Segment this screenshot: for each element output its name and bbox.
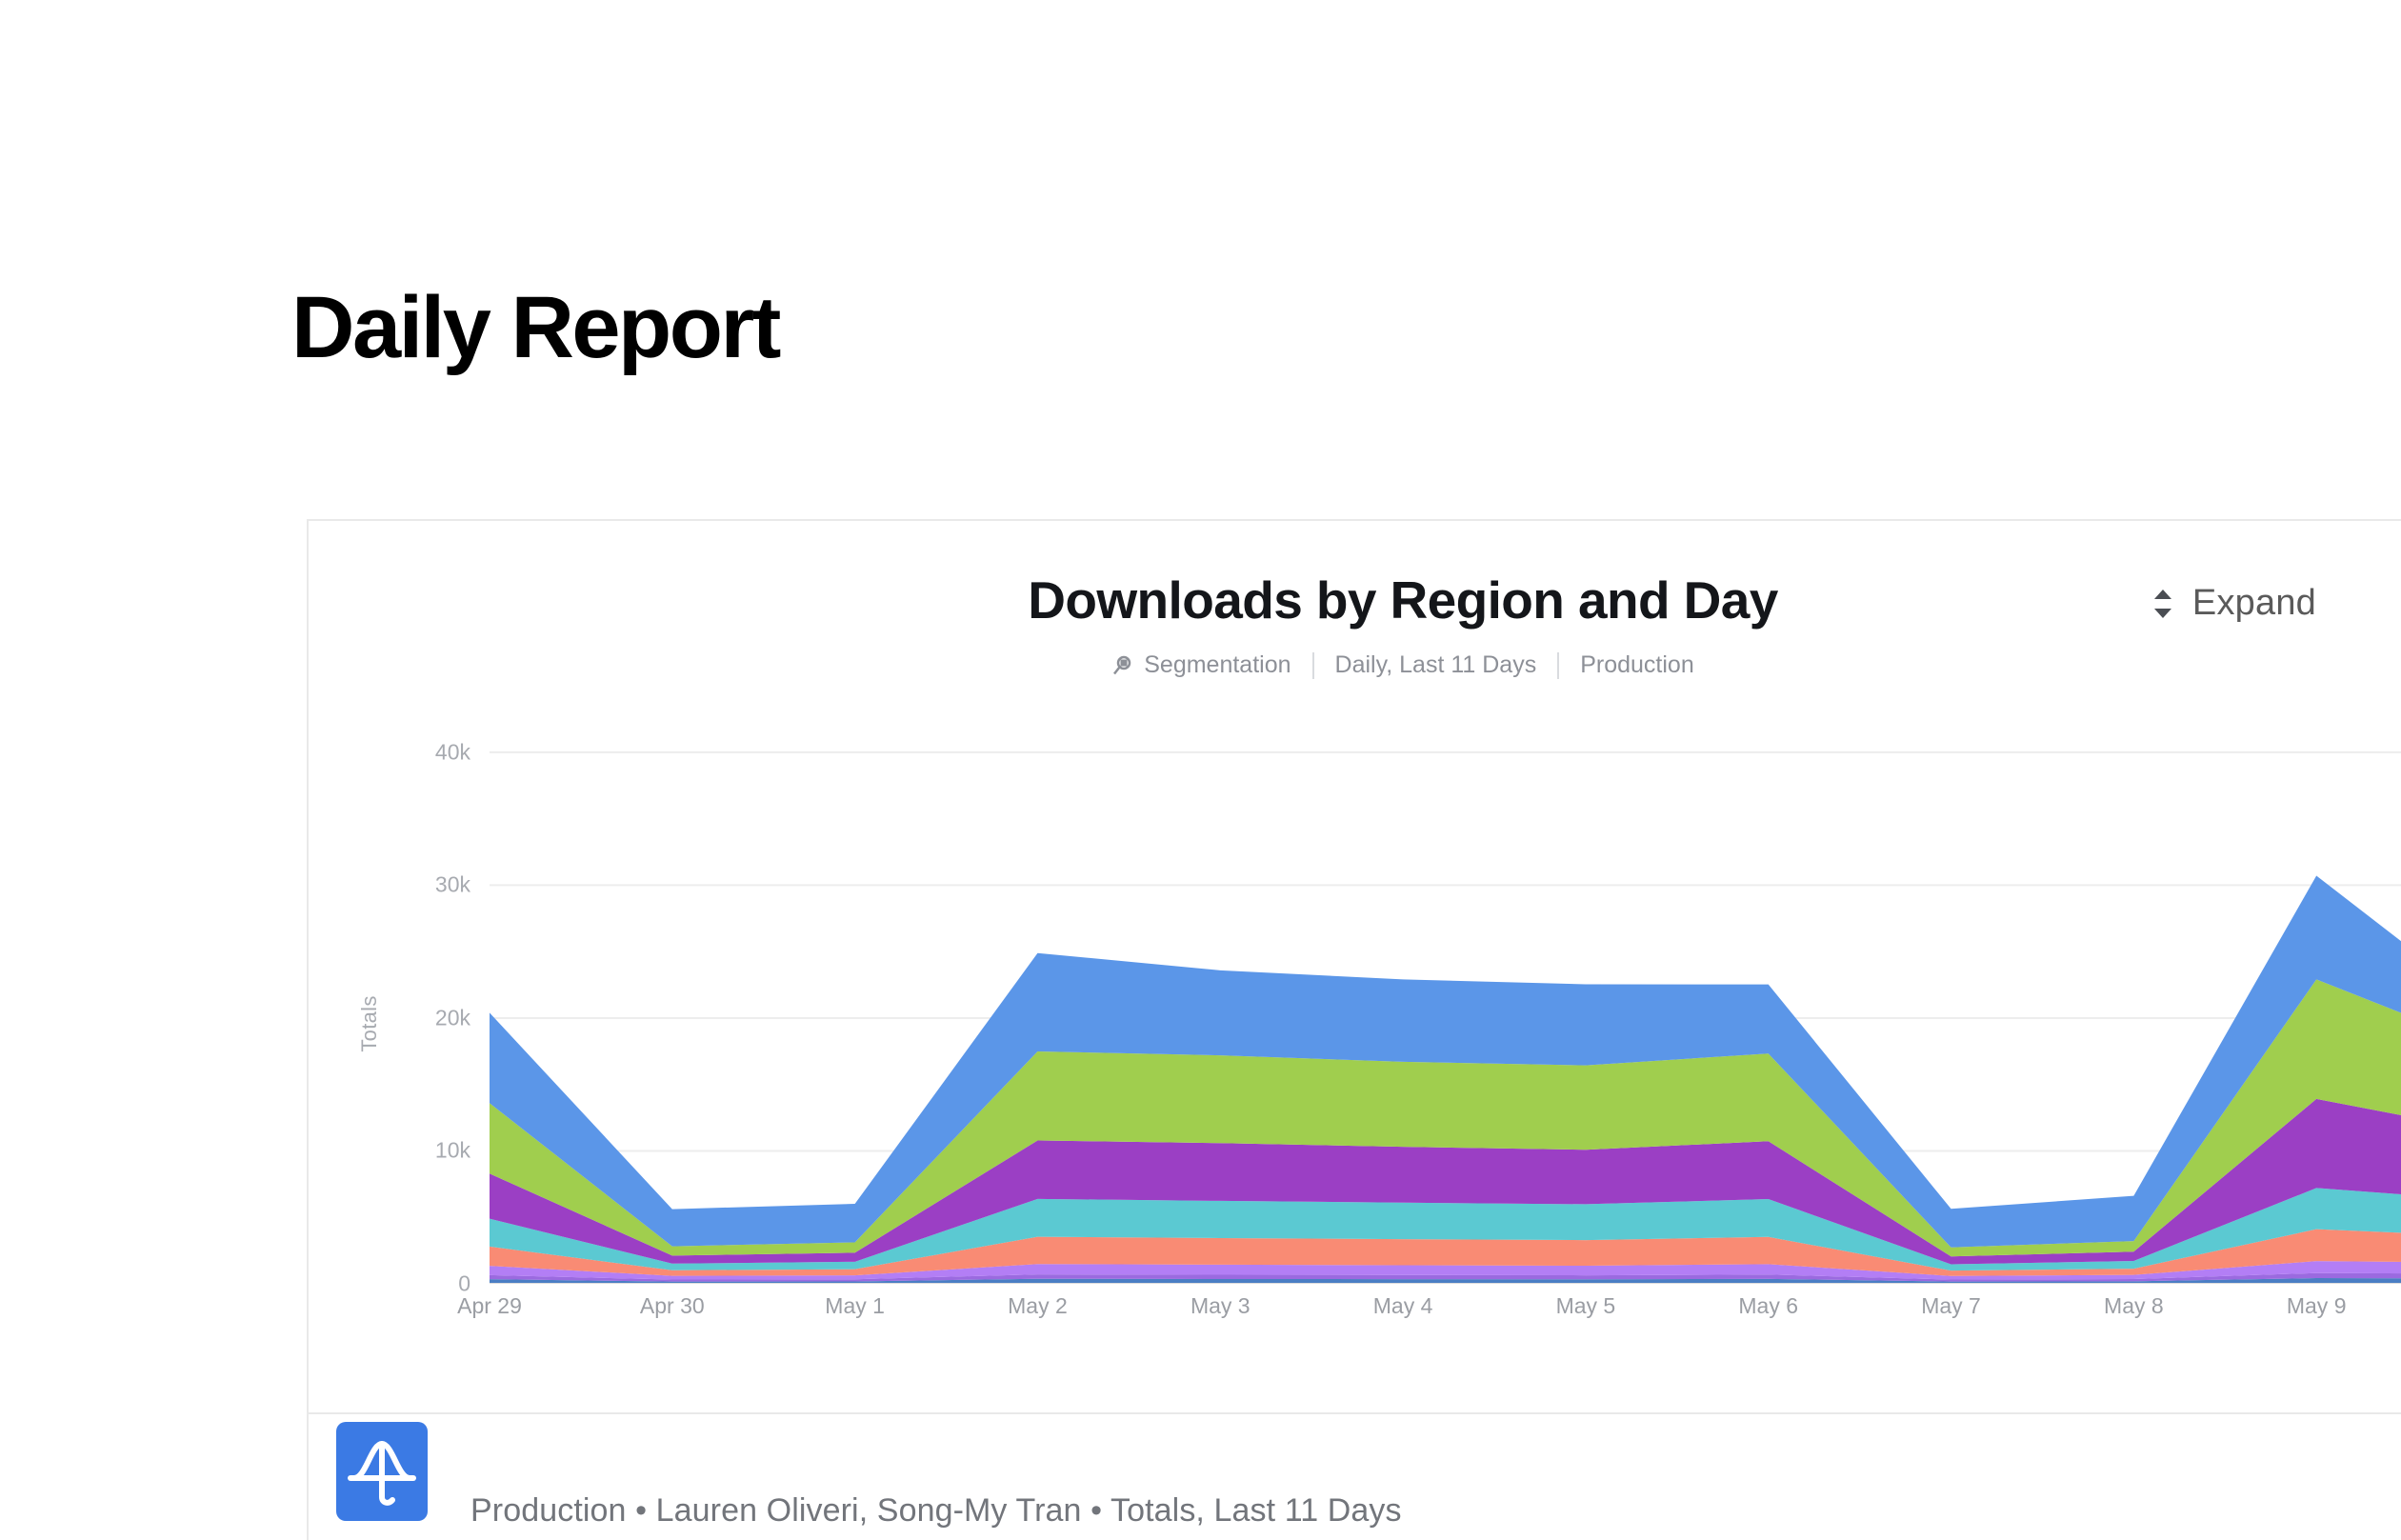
x-axis-tick: May 3 bbox=[1190, 1293, 1251, 1319]
x-axis-tick: May 9 bbox=[2287, 1293, 2347, 1319]
x-axis-tick: Apr 29 bbox=[457, 1293, 522, 1319]
y-axis-tick: 40k bbox=[366, 739, 470, 765]
subtitle-project[interactable]: Production bbox=[1559, 651, 1715, 679]
report-page: Daily Report Expand Downloads by Region … bbox=[0, 0, 2401, 1540]
chart-subtitle: Segmentation Daily, Last 11 Days Product… bbox=[309, 651, 2401, 679]
x-axis-tick: May 5 bbox=[1556, 1293, 1616, 1319]
subtitle-segmentation[interactable]: Segmentation bbox=[1090, 651, 1311, 679]
segmentation-icon bbox=[1111, 654, 1134, 677]
subtitle-interval[interactable]: Daily, Last 11 Days bbox=[1314, 651, 1558, 679]
y-axis-ticks: 010k20k30k40k bbox=[366, 726, 470, 1284]
chart-header: Downloads by Region and Day Segmentation… bbox=[309, 570, 2401, 679]
stacked-area-plot[interactable] bbox=[490, 726, 2401, 1284]
x-axis-tick: Apr 30 bbox=[640, 1293, 705, 1319]
x-axis-tick: May 4 bbox=[1373, 1293, 1433, 1319]
footer-meta-text: Production • Lauren Oliveri, Song-My Tra… bbox=[470, 1492, 1402, 1530]
x-axis-ticks: Apr 29Apr 30May 1May 2May 3May 4May 5May… bbox=[490, 1293, 2401, 1341]
y-axis-tick: 30k bbox=[366, 872, 470, 898]
x-axis-tick: May 2 bbox=[1008, 1293, 1068, 1319]
card-footer: Production • Lauren Oliveri, Song-My Tra… bbox=[307, 1414, 2401, 1540]
x-axis-tick: May 1 bbox=[825, 1293, 885, 1319]
y-axis-tick: 0 bbox=[366, 1271, 470, 1297]
x-axis-tick: May 6 bbox=[1738, 1293, 1798, 1319]
amplitude-logo-icon bbox=[336, 1422, 428, 1521]
x-axis-tick: May 7 bbox=[1921, 1293, 1981, 1319]
page-title: Daily Report bbox=[291, 282, 779, 374]
chart-title: Downloads by Region and Day bbox=[309, 570, 2401, 630]
x-axis-tick: May 8 bbox=[2104, 1293, 2164, 1319]
y-axis-tick: 20k bbox=[366, 1005, 470, 1030]
chart-plot-wrap: Totals 010k20k30k40k Apr 29Apr 30May 1Ma… bbox=[309, 726, 2401, 1383]
y-axis-tick: 10k bbox=[366, 1138, 470, 1164]
chart-card: Expand Downloads by Region and Day Segme… bbox=[307, 519, 2401, 1414]
subtitle-segmentation-label: Segmentation bbox=[1144, 651, 1291, 679]
